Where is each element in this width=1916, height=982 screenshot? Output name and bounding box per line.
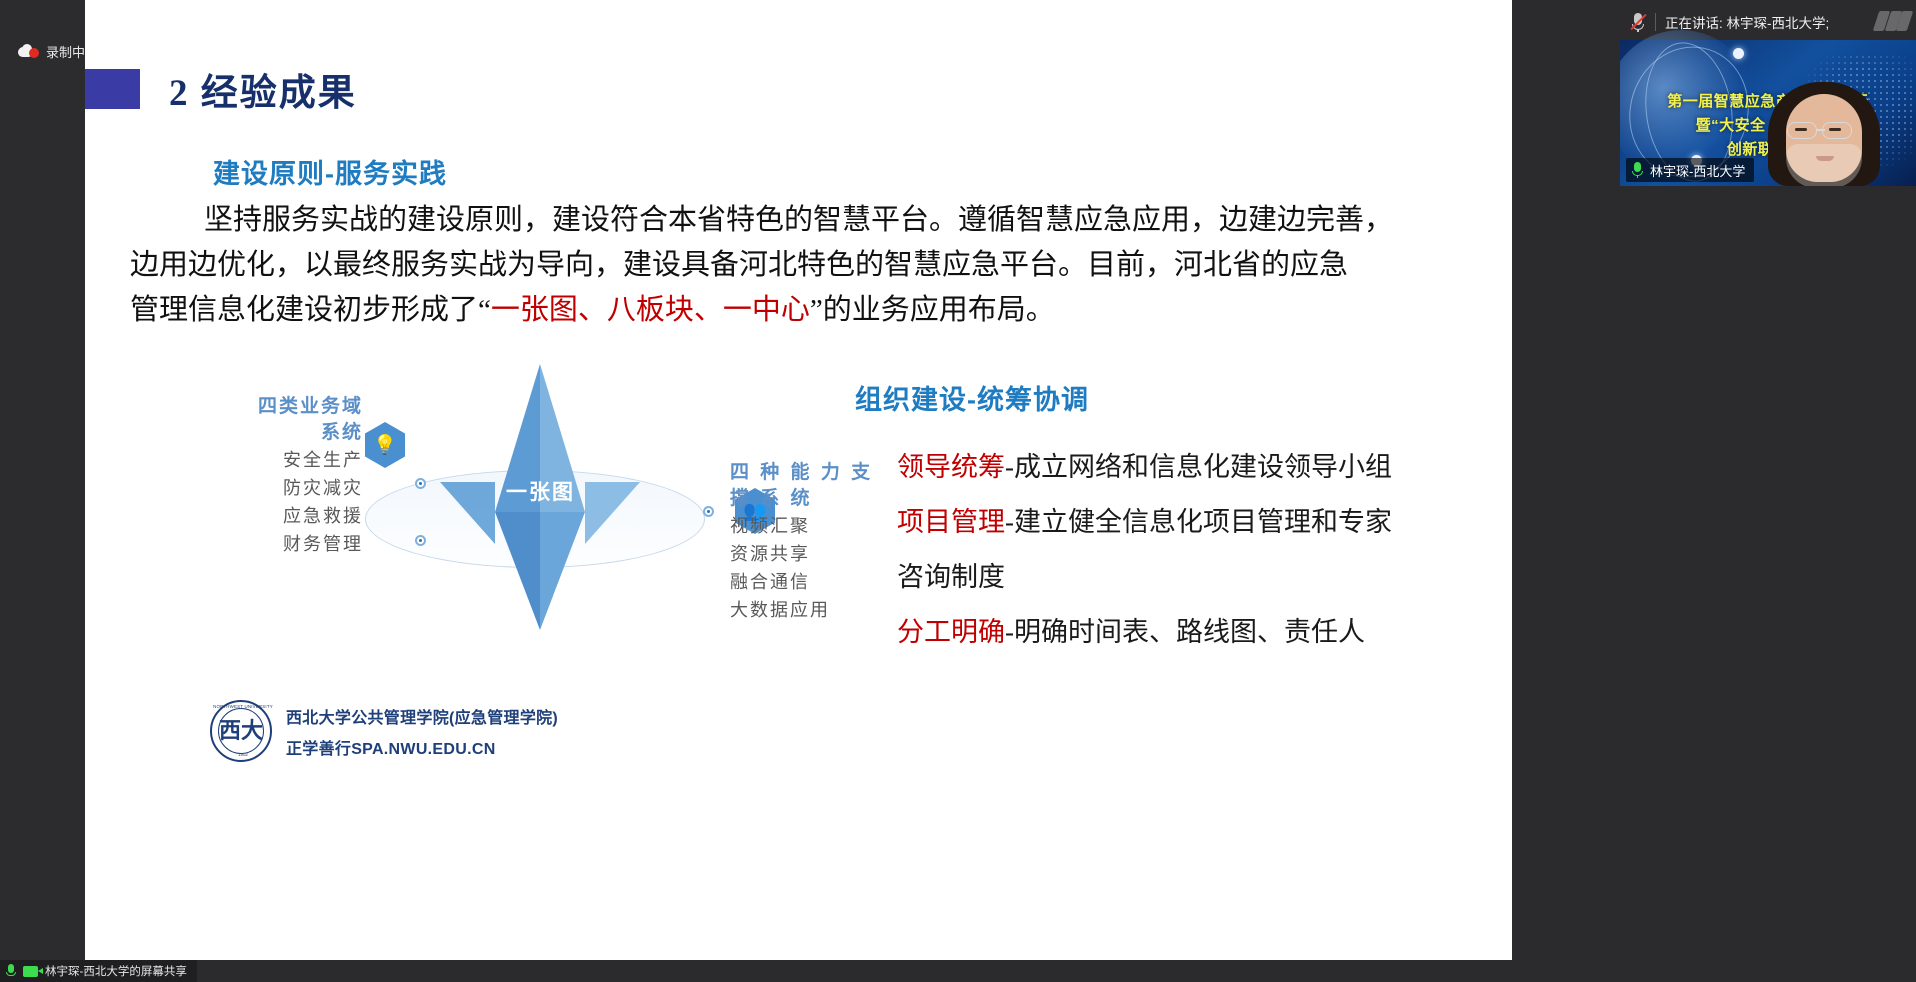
screen-share-label: 林宇琛-西北大学的屏幕共享 — [45, 963, 187, 979]
organization-list: 领导统筹-成立网络和信息化建设领导小组 项目管理-建立健全信息化项目管理和专家 … — [897, 440, 1477, 660]
paragraph-line-3-post: ”的业务应用布局。 — [810, 294, 1055, 326]
nwu-seal-logo: NORTHWEST UNIVERSITY 西大 1902 — [210, 700, 272, 762]
orbit-node-2 — [415, 535, 426, 546]
paragraph-highlight: 一张图、八板块、一中心 — [491, 294, 810, 326]
section-heading-construction-principle: 建设原则-服务实践 — [213, 152, 447, 191]
slide-footer: NORTHWEST UNIVERSITY 西大 1902 西北大学公共管理学院(… — [210, 700, 558, 762]
microphone-on-icon[interactable] — [6, 964, 16, 978]
diagram-left-item-3: 财务管理 — [183, 530, 363, 558]
paragraph-line-1: 坚持服务实战的建设原则，建设符合本省特色的智慧平台。遵循智慧应急应用，边建边完善… — [130, 198, 1490, 243]
speaker-avatar — [1768, 82, 1880, 186]
participant-name-tag: 林宇琛-西北大学 — [1626, 158, 1754, 182]
architecture-diagram: 四类业务域 系统 安全生产 防灾减灾 应急救援 财务管理 💡 一张图 👥 — [125, 360, 845, 660]
microphone-on-icon — [1632, 162, 1643, 178]
organization-item-2-text: 咨询制度 — [897, 562, 1005, 592]
diagram-center-label: 一张图 — [483, 476, 598, 506]
organization-item-3-text: 明确时间表、路线图、责任人 — [1014, 617, 1365, 647]
organization-item-3-sep: - — [1005, 617, 1014, 647]
presentation-slide: 2 经验成果 建设原则-服务实践 坚持服务实战的建设原则，建设符合本省特色的智慧… — [85, 0, 1512, 961]
orbit-node-1 — [415, 478, 426, 489]
organization-item-1: 项目管理-建立健全信息化项目管理和专家 — [897, 495, 1477, 550]
footer-line-2: 正学善行SPA.NWU.EDU.CN — [286, 735, 558, 759]
paragraph-line-3: 管理信息化建设初步形成了“一张图、八板块、一中心”的业务应用布局。 — [130, 288, 1490, 333]
organization-item-3-key: 分工明确 — [897, 617, 1005, 647]
footer-text-lines: 西北大学公共管理学院(应急管理学院) 正学善行SPA.NWU.EDU.CN — [286, 704, 558, 759]
recording-label: 录制中 — [46, 42, 85, 61]
diagram-left-group: 四类业务域 系统 安全生产 防灾减灾 应急救援 财务管理 — [183, 394, 363, 558]
globe-node-1 — [1733, 48, 1744, 59]
organization-item-0-key: 领导统筹 — [897, 452, 1005, 482]
diagram-left-item-0: 安全生产 — [183, 446, 363, 474]
organization-item-0-sep: - — [1005, 452, 1014, 482]
organization-item-1-key: 项目管理 — [897, 507, 1005, 537]
logo-ring-top-text: NORTHWEST UNIVERSITY — [212, 704, 274, 709]
body-paragraph: 坚持服务实战的建设原则，建设符合本省特色的智慧平台。遵循智慧应急应用，边建边完善… — [130, 198, 1490, 333]
diagram-pyramid: 一张图 — [495, 364, 585, 634]
paragraph-line-2: 边用边优化，以最终服务实战为导向，建设具备河北特色的智慧应急平台。目前，河北省的… — [130, 243, 1490, 288]
title-accent-block — [85, 69, 140, 109]
organization-item-2: 咨询制度 — [897, 550, 1477, 605]
zoom-watermark-icon — [1876, 11, 1910, 33]
diagram-left-title: 四类业务域 系统 — [183, 394, 363, 446]
camera-icon[interactable] — [23, 966, 38, 977]
organization-item-0-text: 成立网络和信息化建设领导小组 — [1014, 452, 1392, 482]
speaker-video-thumbnail[interactable]: 正在讲话: 林宇琛-西北大学; 第一届智慧应急产业发展论坛 暨“大安全 ”智慧应… — [1620, 4, 1916, 186]
left-gutter: 录制中 — [0, 0, 85, 982]
paragraph-line-3-pre: 管理信息化建设初步形成了“ — [130, 294, 491, 326]
organization-item-0: 领导统筹-成立网络和信息化建设领导小组 — [897, 440, 1477, 495]
logo-ring-bottom-text: 1902 — [212, 752, 274, 757]
organization-item-1-sep: - — [1005, 507, 1014, 537]
diagram-left-item-2: 应急救援 — [183, 502, 363, 530]
screen-share-status[interactable]: 林宇琛-西北大学的屏幕共享 — [0, 960, 197, 982]
header-divider — [1655, 13, 1656, 31]
recording-indicator: 录制中 — [18, 42, 85, 61]
organization-item-3: 分工明确-明确时间表、路线图、责任人 — [897, 605, 1477, 660]
logo-mark-text: 西大 — [219, 720, 263, 742]
footer-line-1: 西北大学公共管理学院(应急管理学院) — [286, 704, 558, 728]
page-title: 2 经验成果 — [169, 62, 357, 116]
section-heading-organization: 组织建设-统筹协调 — [855, 378, 1089, 417]
recording-cloud-icon — [18, 44, 40, 59]
active-speaker-label: 正在讲话: 林宇琛-西北大学; — [1665, 12, 1829, 32]
diagram-left-item-1: 防灾减灾 — [183, 474, 363, 502]
video-feed: 第一届智慧应急产业发展论坛 暨“大安全 ”智慧应急 创新联 大会 — [1620, 40, 1916, 186]
organization-item-1-text: 建立健全信息化项目管理和专家 — [1014, 507, 1392, 537]
lightbulb-glyph: 💡 — [373, 436, 397, 455]
lightbulb-hex-icon: 💡 — [365, 422, 405, 468]
zoom-screen-share-window: 录制中 2 经验成果 建设原则-服务实践 坚持服务实战的建设原则，建设符合本省特… — [0, 0, 1916, 982]
slide-title-row: 2 经验成果 — [85, 62, 357, 116]
logo-inner-ring: 西大 — [218, 708, 264, 754]
microphone-muted-icon — [1630, 12, 1646, 32]
orbit-node-3 — [703, 506, 714, 517]
bottom-status-bar: 林宇琛-西北大学的屏幕共享 — [0, 960, 1916, 982]
participant-name: 林宇琛-西北大学 — [1650, 161, 1745, 180]
